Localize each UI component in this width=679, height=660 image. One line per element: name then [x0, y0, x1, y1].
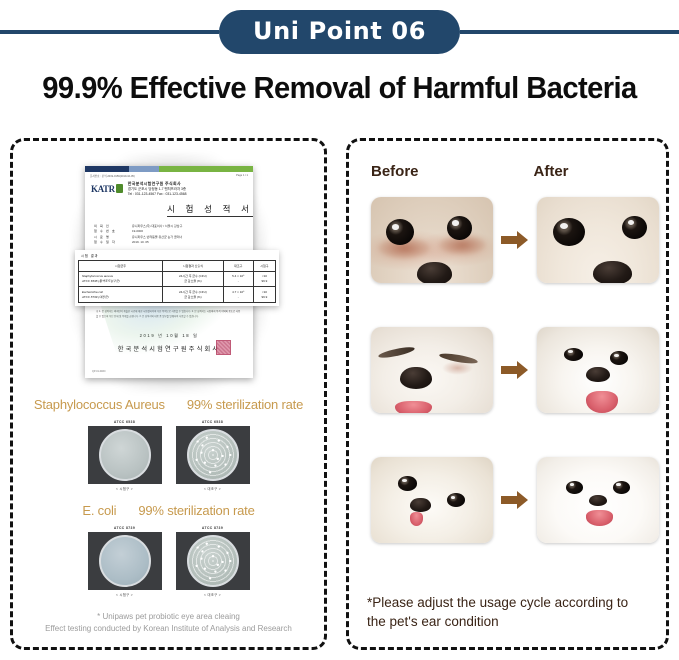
cell-control: 4.7 × 10⁵ - — [223, 287, 253, 302]
dish-photo-frame — [88, 426, 162, 484]
certificate-org-name: 한국분석시험연구원 주식회사 — [128, 181, 187, 187]
right-arrow-icon — [501, 360, 529, 380]
dish-strain-label: ATCC 6538 — [88, 420, 162, 424]
column-header: 시험결과 산출식 — [163, 261, 224, 272]
before-photo-2 — [371, 327, 493, 413]
certificate-signature: 한국분석시험연구원주식회사 — [85, 344, 253, 353]
lab-footnote: * Unipaws pet probiotic eye area cleaing… — [13, 611, 324, 634]
ecoli-heading: E. coli 99% sterilization rate — [13, 503, 324, 518]
badge-line-left — [0, 30, 219, 34]
before-photo-3 — [371, 457, 493, 543]
arrow-cell-1 — [493, 230, 537, 250]
certificate-fields: 의 뢰 인유니파우스(주) 대표이사 / 서울시 강남구 접 수 번 호19-0… — [85, 224, 253, 246]
after-label: After — [508, 163, 667, 180]
certificate-org-address-1: 경기도 군포시 당정동 1-7 벤처프라자 3층 — [128, 187, 187, 192]
footnote-line-1: * Unipaws pet probiotic eye area cleaing — [13, 611, 324, 623]
results-table-caption: 시험 결과 — [78, 252, 276, 260]
comparison-row-1 — [349, 197, 666, 283]
dish-strain-label: ATCC 6538 — [176, 420, 250, 424]
petri-dish-clean — [99, 535, 151, 587]
cell-formula: 24시간 후 균수 (CFU) 균 감소율 (%) — [163, 287, 224, 302]
dish-caption: < 시험구 > — [88, 486, 162, 491]
before-after-panel: Before After — [346, 138, 669, 650]
right-arrow-icon — [501, 490, 529, 510]
certificate-doc-number: 문서번호 : 분석-2019-0159(2019-10-05) — [90, 174, 135, 178]
column-header: 시험균주 — [79, 261, 163, 272]
cell-control: 5.4 × 10⁵ - — [223, 271, 253, 286]
petri-dish-cell: ATCC 6538 < 시험구 > — [88, 420, 162, 491]
dish-photo-frame — [176, 532, 250, 590]
petri-dish-cell: ATCC 8739 < 시험구 > — [88, 526, 162, 597]
table-header-row: 시험균주 시험결과 산출식 대조구 시험구 — [79, 261, 276, 272]
footnote-line-2: Effect testing conducted by Korean Insti… — [13, 623, 324, 635]
petri-dish-colonies — [187, 429, 239, 481]
ecoli-rate-label: 99% sterilization rate — [138, 503, 254, 518]
table-row: Staphylococcus aureus ATCC 6538 (황색포도상구균… — [79, 271, 276, 286]
comparison-row-3 — [349, 457, 666, 543]
dish-caption: < 대조구 > — [176, 486, 250, 491]
certificate-org-address-2: Tel : 031-123-4567 Fax : 031-123-4568 — [128, 192, 187, 197]
usage-note: *Please adjust the usage cycle according… — [367, 593, 647, 631]
official-seal-stamp — [216, 340, 231, 355]
petri-dish-clean — [99, 429, 151, 481]
staph-rate-label: 99% sterilization rate — [187, 397, 303, 412]
dish-photo-frame — [88, 532, 162, 590]
ecoli-organism-label: E. coli — [82, 503, 116, 518]
certificate-title: 시 험 성 적 서 — [167, 203, 253, 217]
katr-logo: KATR — [91, 184, 123, 194]
certificate-page-number: Page 1 / 1 — [236, 174, 248, 178]
after-photo-3 — [537, 457, 659, 543]
comparison-row-2 — [349, 327, 666, 413]
certificate-date: 2019 년 10월 18 일 — [85, 333, 253, 339]
uni-point-badge: Uni Point 06 — [219, 10, 460, 54]
test-results-table: 시험 결과 시험균주 시험결과 산출식 대조구 시험구 Stap — [75, 250, 279, 306]
header-badge-row: Uni Point 06 — [0, 8, 679, 56]
cell-formula: 24시간 후 균수 (CFU) 균 감소율 (%) — [163, 271, 224, 286]
dish-caption: < 대조구 > — [176, 592, 250, 597]
certificate-footer-code: QP-01-04R0 — [92, 370, 105, 373]
petri-dish-colonies — [187, 535, 239, 587]
after-photo-2 — [537, 327, 659, 413]
staph-dish-row: ATCC 6538 < 시험구 > ATCC 6538 < 대조구 > — [13, 420, 324, 491]
arrow-cell-3 — [493, 490, 537, 510]
after-photo-1 — [537, 197, 659, 283]
dish-caption: < 시험구 > — [88, 592, 162, 597]
cell-sample: <10 99.9 — [253, 271, 275, 286]
lab-evidence-panel: 문서번호 : 분석-2019-0159(2019-10-05) Page 1 /… — [10, 138, 327, 650]
certificate-topbar — [85, 166, 253, 172]
column-header: 시험구 — [253, 261, 275, 272]
petri-dish-cell: ATCC 6538 < 대조구 > — [176, 420, 250, 491]
arrow-cell-2 — [493, 360, 537, 380]
column-header: 대조구 — [223, 261, 253, 272]
petri-dish-cell: ATCC 8739 < 대조구 > — [176, 526, 250, 597]
dish-strain-label: ATCC 8739 — [88, 526, 162, 530]
test-certificate: 문서번호 : 분석-2019-0159(2019-10-05) Page 1 /… — [85, 166, 253, 378]
cert-field-value: 2019. 10. 05 — [132, 240, 244, 246]
right-arrow-icon — [501, 230, 529, 250]
bacteria-test-ecoli: E. coli 99% sterilization rate ATCC 8739… — [13, 503, 324, 597]
cell-organism: Staphylococcus aureus ATCC 6538 (황색포도상구균… — [79, 271, 163, 286]
infographic-page: Uni Point 06 99.9% Effective Removal of … — [0, 0, 679, 660]
certificate-notice: ※ 1. 본 성적서는 의뢰인이 제출한 시료에 대한 시험결과이며 다른 목적… — [85, 310, 253, 319]
certificate-org-block: 한국분석시험연구원 주식회사 경기도 군포시 당정동 1-7 벤처프라자 3층 … — [128, 181, 187, 197]
cert-field-key: 접 수 일 자 — [94, 240, 128, 246]
before-after-headers: Before After — [349, 163, 666, 180]
cell-sample: <10 99.9 — [253, 287, 275, 302]
before-photo-1 — [371, 197, 493, 283]
before-label: Before — [349, 163, 508, 180]
cell-organism: Escherichia coli ATCC 8739 (대장균) — [79, 287, 163, 302]
ecoli-dish-row: ATCC 8739 < 시험구 > ATCC 8739 < 대조구 > — [13, 526, 324, 597]
bacteria-test-staph: Staphylococcus Aureus 99% sterilization … — [13, 397, 324, 491]
table-row: Escherichia coli ATCC 8739 (대장균) 24시간 후 … — [79, 287, 276, 302]
staph-organism-label: Staphylococcus Aureus — [34, 397, 165, 412]
badge-line-right — [460, 30, 679, 34]
staph-heading: Staphylococcus Aureus 99% sterilization … — [13, 397, 324, 412]
page-title: 99.9% Effective Removal of Harmful Bacte… — [20, 70, 658, 106]
certificate-logo-row: KATR 한국분석시험연구원 주식회사 경기도 군포시 당정동 1-7 벤처프라… — [85, 178, 253, 197]
dish-strain-label: ATCC 8739 — [176, 526, 250, 530]
dish-photo-frame — [176, 426, 250, 484]
